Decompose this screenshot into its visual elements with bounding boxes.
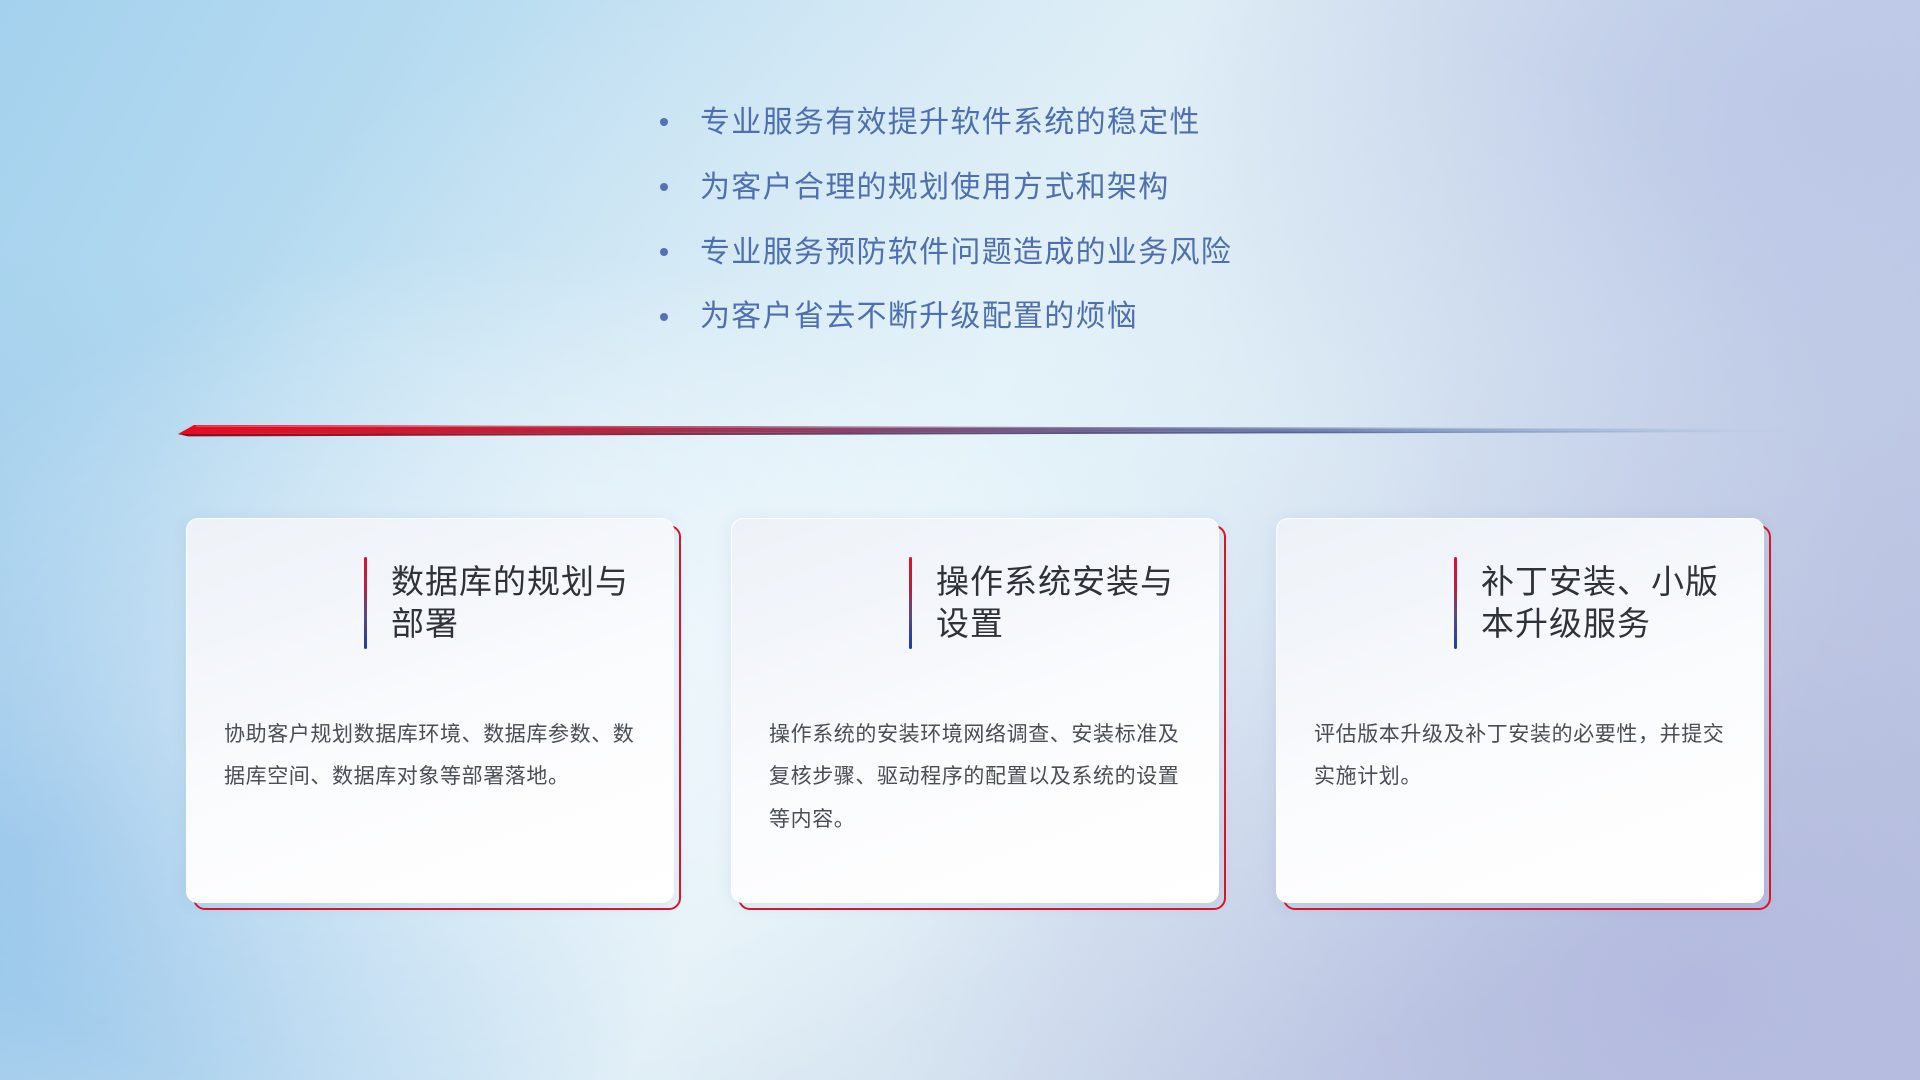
card-number-watermark: 02 [731, 547, 909, 659]
list-item: 为客户省去不断升级配置的烦恼 [660, 298, 1460, 336]
card-header: 03 补丁安装、小版本升级服务 [1276, 534, 1764, 672]
card-row: 01 数据库的规划与部署 协助客户规划数据库环境、数据库参数、数据库空间、数据库… [186, 518, 1766, 903]
card-number-watermark: 01 [186, 547, 364, 659]
card-title-rule [1454, 557, 1457, 649]
card-number-text: 01 [211, 545, 340, 661]
section-divider [178, 420, 1788, 444]
card-description: 协助客户规划数据库环境、数据库参数、数据库空间、数据库对象等部署落地。 [224, 714, 640, 799]
bullet-text: 为客户省去不断升级配置的烦恼 [700, 298, 1138, 336]
card-header: 01 数据库的规划与部署 [186, 534, 674, 672]
bullet-text: 专业服务有效提升软件系统的稳定性 [700, 104, 1201, 142]
card-title-rule [364, 557, 367, 649]
bullet-list: 专业服务有效提升软件系统的稳定性 为客户合理的规划使用方式和架构 专业服务预防软… [660, 104, 1460, 363]
card-title: 数据库的规划与部署 [391, 561, 674, 645]
bullet-dot-icon [660, 172, 700, 198]
bullet-dot-icon [660, 301, 700, 327]
slide-canvas: 专业服务有效提升软件系统的稳定性 为客户合理的规划使用方式和架构 专业服务预防软… [0, 0, 1920, 1080]
list-item: 专业服务有效提升软件系统的稳定性 [660, 104, 1460, 142]
bullet-dot-icon [660, 237, 700, 263]
card-surface: 01 数据库的规划与部署 协助客户规划数据库环境、数据库参数、数据库空间、数据库… [186, 518, 674, 903]
bullet-dot-icon [660, 107, 700, 133]
list-item: 专业服务预防软件问题造成的业务风险 [660, 234, 1460, 272]
card-title: 操作系统安装与设置 [936, 561, 1219, 645]
card-number-watermark: 03 [1276, 547, 1454, 659]
card-description: 评估版本升级及补丁安装的必要性，并提交实施计划。 [1314, 714, 1730, 799]
bullet-text: 专业服务预防软件问题造成的业务风险 [700, 234, 1232, 272]
card-surface: 02 操作系统安装与设置 操作系统的安装环境网络调查、安装标准及复核步骤、驱动程… [731, 518, 1219, 903]
card-number-text: 03 [1301, 545, 1430, 661]
service-card[interactable]: 03 补丁安装、小版本升级服务 评估版本升级及补丁安装的必要性，并提交实施计划。 [1276, 518, 1764, 903]
card-header: 02 操作系统安装与设置 [731, 534, 1219, 672]
tapered-gradient-rule-icon [178, 420, 1788, 444]
service-card[interactable]: 02 操作系统安装与设置 操作系统的安装环境网络调查、安装标准及复核步骤、驱动程… [731, 518, 1219, 903]
list-item: 为客户合理的规划使用方式和架构 [660, 169, 1460, 207]
service-card[interactable]: 01 数据库的规划与部署 协助客户规划数据库环境、数据库参数、数据库空间、数据库… [186, 518, 674, 903]
card-title: 补丁安装、小版本升级服务 [1481, 561, 1764, 645]
card-description: 操作系统的安装环境网络调查、安装标准及复核步骤、驱动程序的配置以及系统的设置等内… [769, 714, 1185, 841]
card-surface: 03 补丁安装、小版本升级服务 评估版本升级及补丁安装的必要性，并提交实施计划。 [1276, 518, 1764, 903]
card-title-rule [909, 557, 912, 649]
card-number-text: 02 [756, 545, 885, 661]
bullet-text: 为客户合理的规划使用方式和架构 [700, 169, 1170, 207]
